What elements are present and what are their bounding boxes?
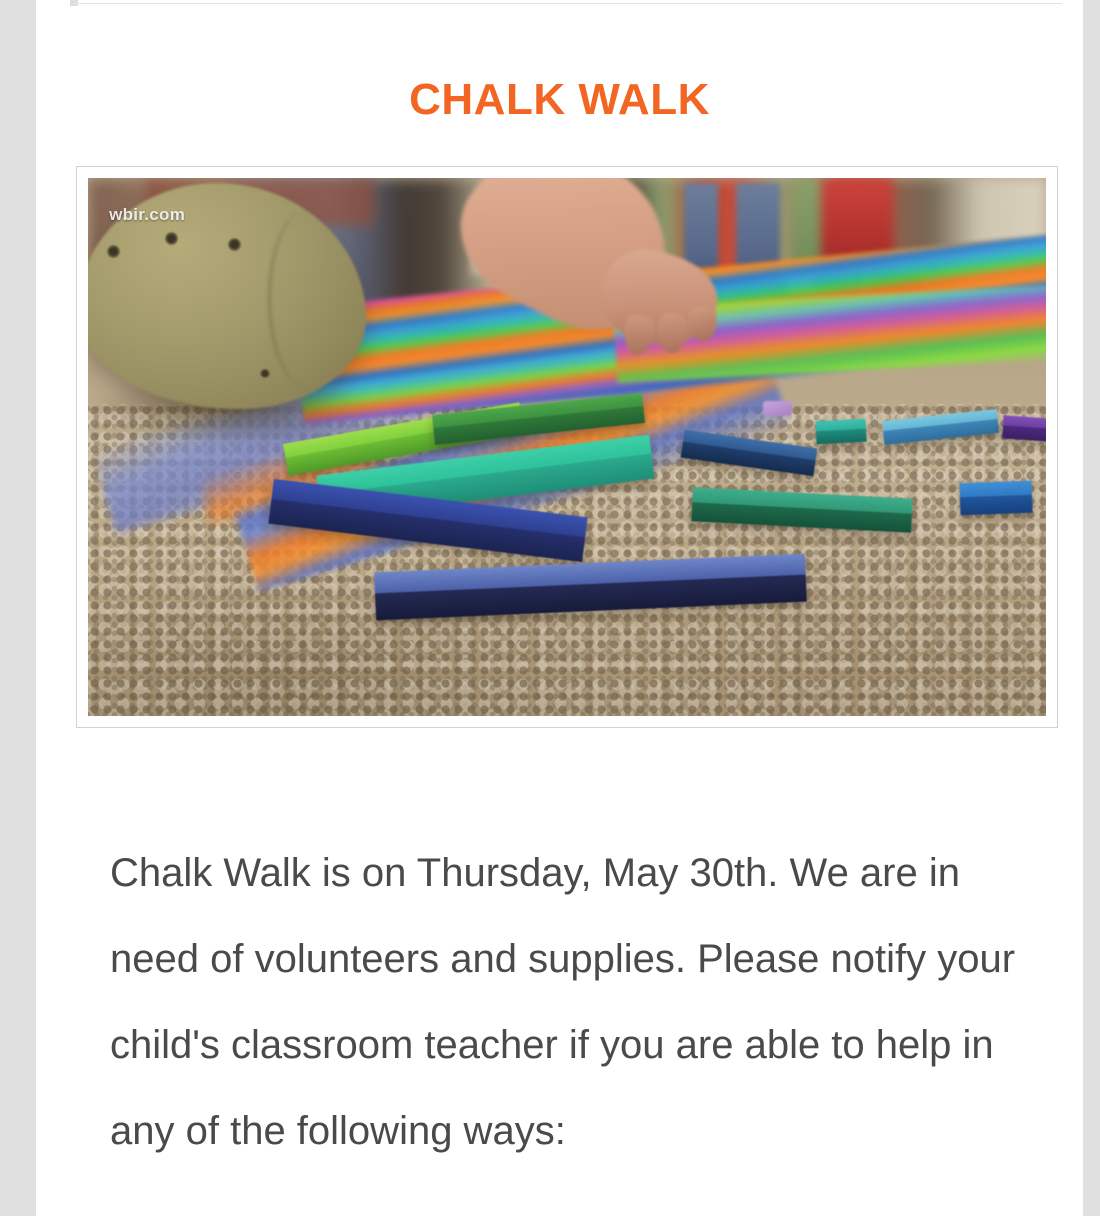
blue-chalk-cube — [959, 481, 1032, 516]
teal-chalk-cube — [816, 419, 867, 444]
purple-chalk-cube — [1002, 416, 1046, 442]
newsletter-page: CHALK WALK — [36, 0, 1083, 1216]
top-divider — [72, 3, 1062, 4]
lilac-nugget-chalk — [763, 401, 792, 416]
announcement-paragraph: Chalk Walk is on Thursday, May 30th. We … — [110, 830, 1060, 1174]
chalk-walk-photo: wbir.com — [88, 178, 1046, 716]
bag-grommet — [165, 232, 178, 245]
chalk-front-face — [960, 495, 1032, 516]
page-title: CHALK WALK — [36, 76, 1083, 124]
photo-watermark: wbir.com — [109, 205, 185, 225]
photo-frame: wbir.com — [76, 166, 1058, 728]
bag-seam — [268, 210, 346, 386]
